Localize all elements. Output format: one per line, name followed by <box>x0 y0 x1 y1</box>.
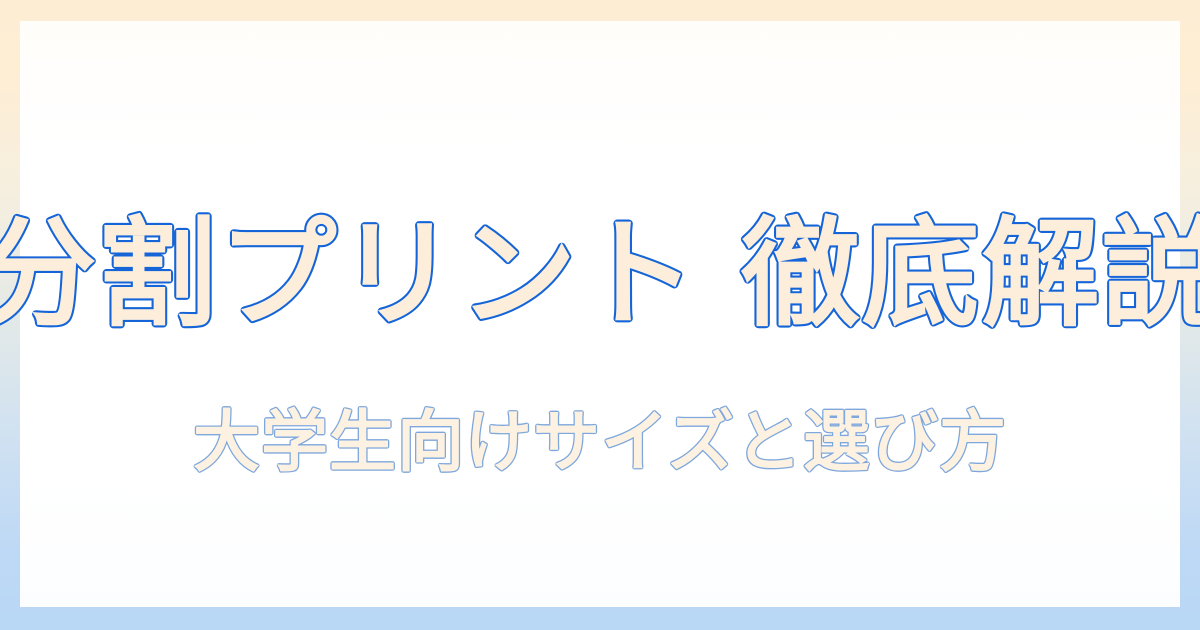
ogp-frame: 分割プリント 徹底解説 大学生向けサイズと選び方 <box>0 0 1200 630</box>
ogp-card: 分割プリント 徹底解説 大学生向けサイズと選び方 <box>20 21 1180 607</box>
page-subtitle: 大学生向けサイズと選び方 <box>193 403 1007 481</box>
page-title: 分割プリント 徹底解説 <box>0 205 1200 343</box>
title-block: 分割プリント 徹底解説 <box>20 197 1180 357</box>
subtitle-block: 大学生向けサイズと選び方 <box>20 393 1180 493</box>
title-graphic: 分割プリント 徹底解説 <box>20 197 1180 357</box>
subtitle-graphic: 大学生向けサイズと選び方 <box>100 393 1100 493</box>
